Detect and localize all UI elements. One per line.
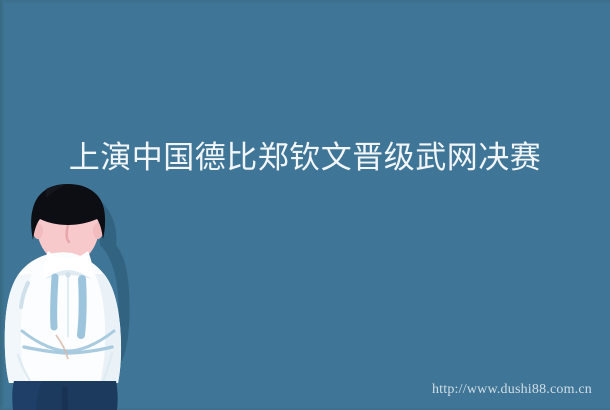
top-edge-band [0,0,610,4]
hoodie [5,251,121,383]
person-illustration [0,175,150,410]
pants [12,381,117,410]
watermark-url: http://www.dushi88.com.cn [432,382,592,398]
headline-text: 上演中国德比郑钦文晋级武网决赛 [0,136,610,180]
image-canvas: 上演中国德比郑钦文晋级武网决赛 [0,0,610,410]
